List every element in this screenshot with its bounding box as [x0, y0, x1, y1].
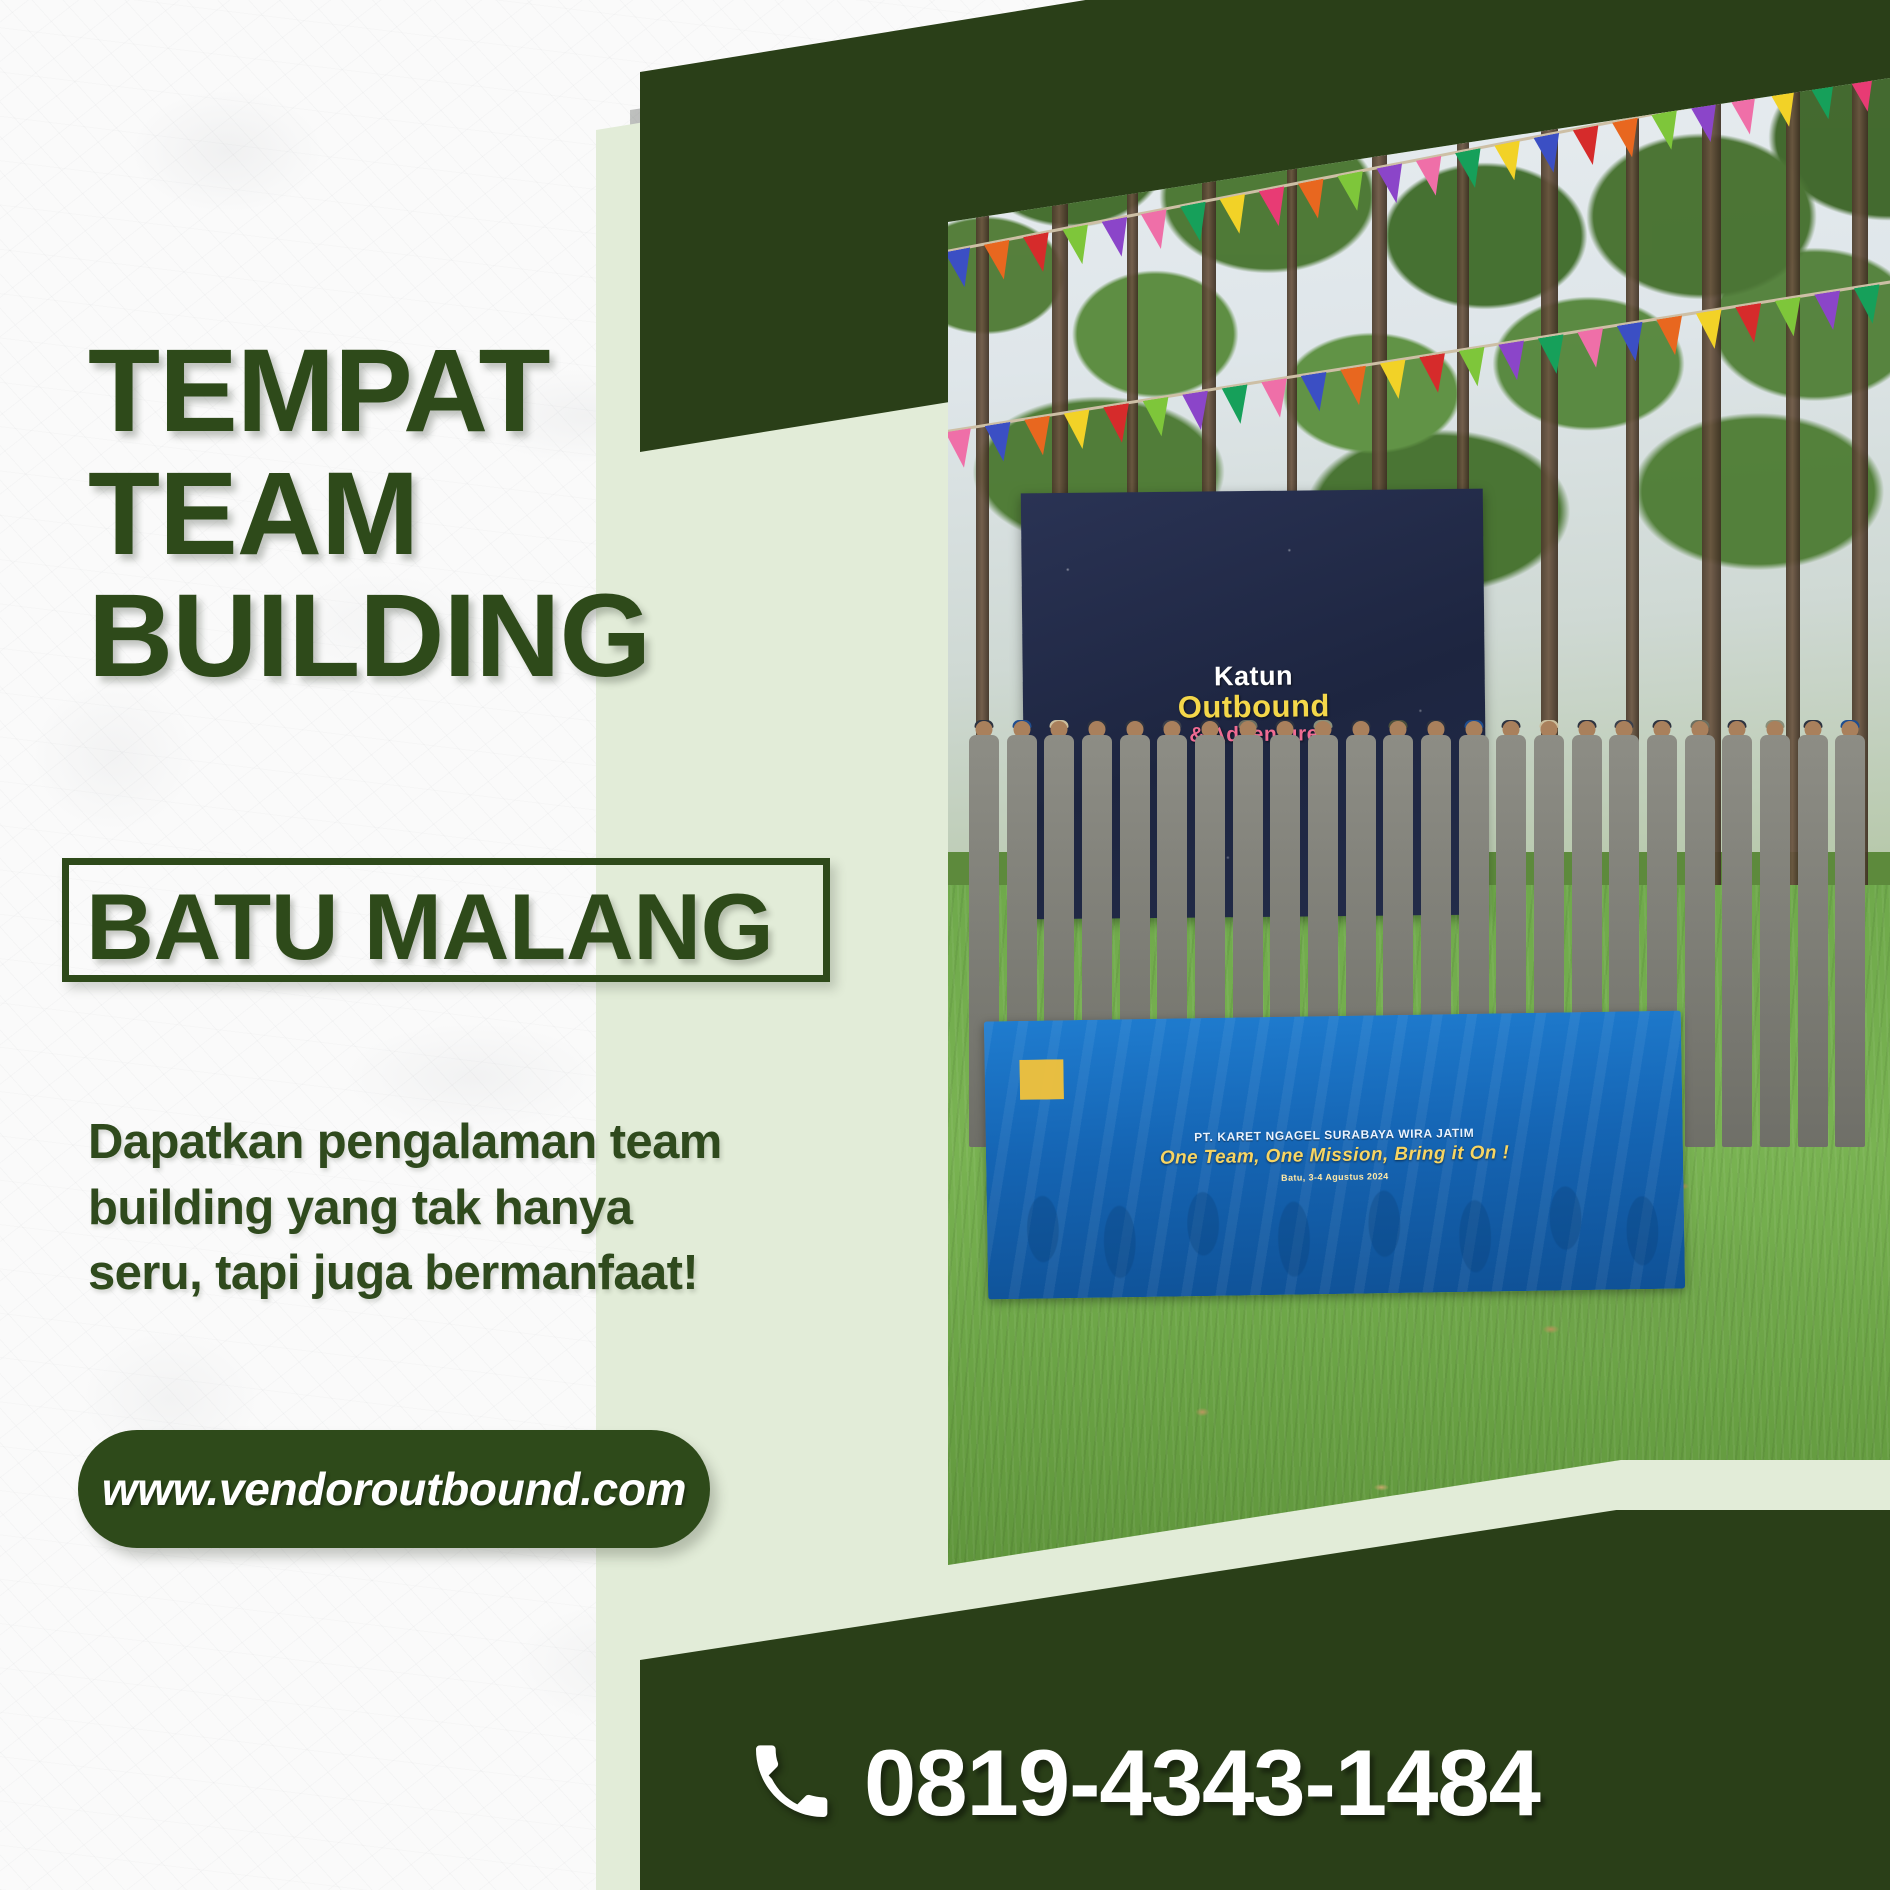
banner-silhouette-graphic [984, 1010, 1685, 1299]
subcopy-paragraph: Dapatkan pengalaman team building yang t… [88, 1110, 728, 1307]
company-banner: PT. KARET NGAGEL SURABAYA WIRA JATIM One… [984, 1010, 1685, 1299]
poster-canvas: Katun Outbound & Adventure [0, 0, 1890, 1890]
subcopy-line-3: seru, tapi juga bermanfaat! [88, 1241, 728, 1307]
headline-line-3: BUILDING [88, 575, 650, 698]
left-text-column: TEMPAT TEAM BUILDING BATU MALANG Dapatka… [0, 0, 860, 1890]
phone-number-text: 0819-4343-1484 [864, 1736, 1540, 1830]
company-logo-mark [1019, 1059, 1064, 1100]
headline-line-2: TEAM [88, 453, 650, 576]
contact-phone-row[interactable]: 0819-4343-1484 [750, 1736, 1540, 1830]
website-button[interactable]: www.vendoroutbound.com [78, 1430, 710, 1548]
page-title: TEMPAT TEAM BUILDING [88, 330, 650, 698]
team-building-photo: Katun Outbound & Adventure [948, 0, 1890, 1638]
location-label: BATU MALANG [86, 880, 773, 974]
website-url-text: www.vendoroutbound.com [102, 1462, 687, 1516]
subcopy-line-1: Dapatkan pengalaman team [88, 1110, 728, 1176]
subcopy-line-2: building yang tak hanya [88, 1176, 728, 1242]
headline-line-1: TEMPAT [88, 330, 650, 453]
